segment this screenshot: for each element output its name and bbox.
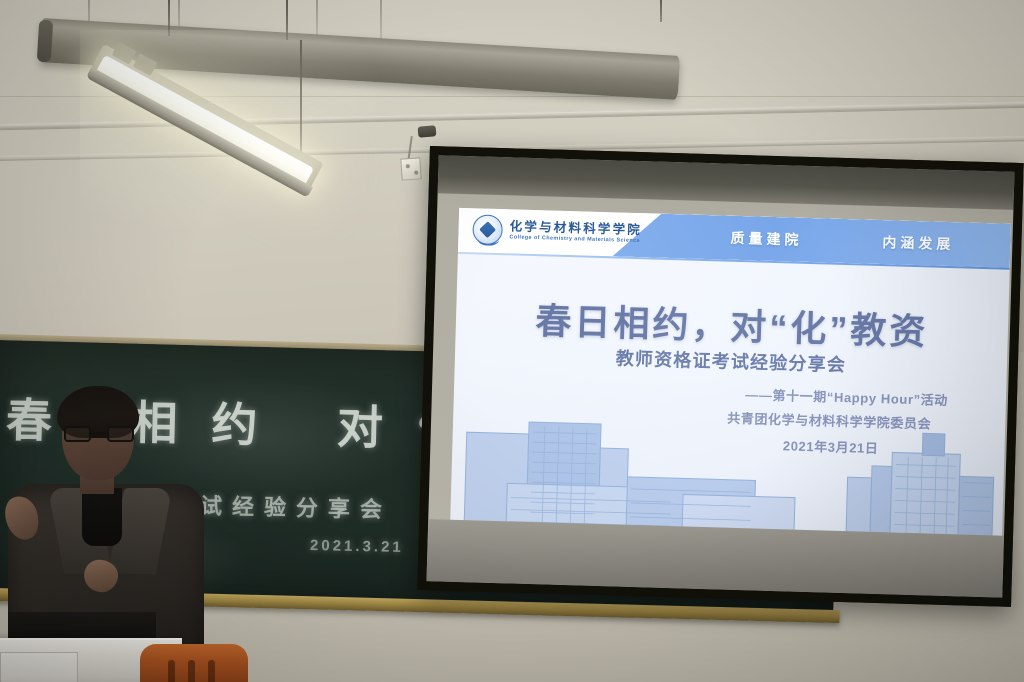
classroom-scene: 春 相约 对“化”教资 考试经验分享会 2021.3.21 THREE DIAM…	[0, 0, 1024, 682]
ceiling-beam-end-cap	[37, 20, 53, 63]
podium-monitor-back	[8, 612, 156, 640]
college-emblem-icon	[472, 214, 503, 245]
lectern-panel	[0, 652, 78, 682]
slide-header-band: 化学与材料科学学院 College of Chemistry and Mater…	[458, 208, 1011, 268]
inner-shirt	[82, 488, 122, 546]
screen-unlit-top-band: THREE DIAMONDS	[438, 155, 1015, 210]
beam-hanger	[168, 0, 170, 36]
beam-hanger	[660, 0, 662, 22]
screen-mount-bracket	[418, 125, 437, 138]
beam-hanger	[286, 0, 288, 40]
wall-switch-icon[interactable]	[400, 157, 421, 180]
screen-surface: THREE DIAMONDS 化学与材料科学学院 College of Chem…	[426, 155, 1014, 597]
slide-slogan-quality: 质量建院	[730, 228, 803, 250]
slide-event-series: ——第十一期“Happy Hour”活动	[745, 384, 948, 409]
projection-screen: THREE DIAMONDS 化学与材料科学学院 College of Chem…	[417, 146, 1024, 607]
eyeglasses-icon	[64, 426, 134, 443]
college-logo-block: 化学与材料科学学院 College of Chemistry and Mater…	[472, 214, 642, 249]
slide-slogan-development: 内涵发展	[882, 232, 955, 254]
wooden-chair	[140, 644, 248, 682]
presentation-slide: 化学与材料科学学院 College of Chemistry and Mater…	[450, 208, 1011, 554]
